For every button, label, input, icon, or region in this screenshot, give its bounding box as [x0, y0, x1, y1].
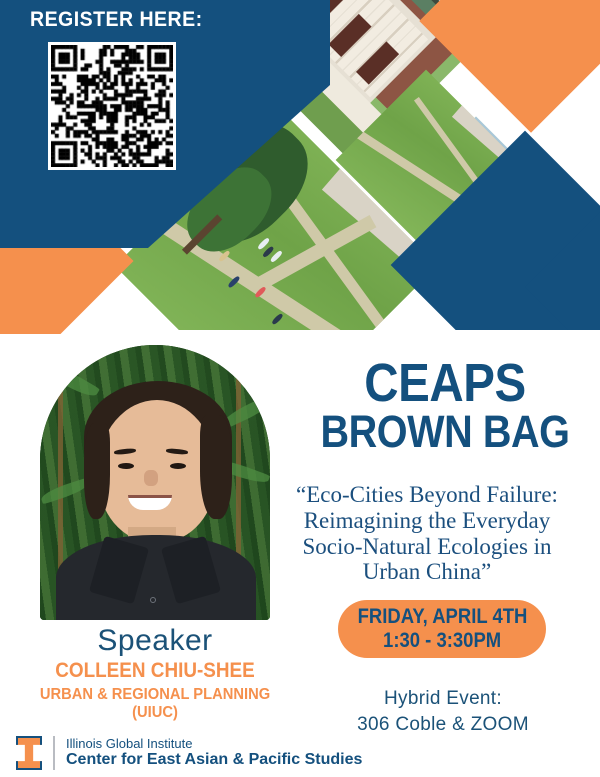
- talk-title-line-2: Reimagining the Everyday: [272, 508, 582, 534]
- illinois-block-i-icon: [12, 734, 46, 772]
- footer-divider: [53, 736, 55, 770]
- title-line-2: BROWN BAG: [317, 410, 572, 453]
- date-time-badge: FRIDAY, APRIL 4TH 1:30 - 3:30PM: [338, 600, 546, 658]
- footer-org-line-2: Center for East Asian & Pacific Studies: [66, 751, 362, 770]
- footer-org-line-1: Illinois Global Institute: [66, 736, 362, 751]
- talk-title-line-3: Socio-Natural Ecologies in: [272, 534, 582, 560]
- register-here-label: REGISTER HERE:: [30, 8, 203, 32]
- speaker-portrait: [40, 345, 270, 620]
- title-line-1: CEAPS: [364, 353, 526, 413]
- event-format-label: Hybrid Event:: [318, 686, 568, 712]
- page-title: CEAPS BROWN BAG: [317, 358, 572, 453]
- speaker-heading: Speaker: [20, 624, 290, 658]
- speaker-name: COLLEEN CHIU-SHEE: [10, 660, 300, 683]
- event-poster: REGISTER HERE: CEAPS BROWN BAG “Eco-Citi…: [0, 0, 600, 777]
- talk-title-line-4: Urban China”: [272, 559, 582, 585]
- event-format: Hybrid Event: 306 Coble & ZOOM: [318, 686, 568, 737]
- qr-code[interactable]: [48, 42, 176, 170]
- event-date: FRIDAY, APRIL 4TH: [357, 605, 527, 629]
- talk-title: “Eco-Cities Beyond Failure: Reimagining …: [272, 482, 582, 585]
- footer-branding: Illinois Global Institute Center for Eas…: [12, 734, 362, 772]
- event-time: 1:30 - 3:30PM: [383, 629, 501, 653]
- speaker-university: (UIUC): [22, 704, 289, 722]
- talk-title-line-1: “Eco-Cities Beyond Failure:: [272, 482, 582, 508]
- speaker-department: URBAN & REGIONAL PLANNING: [22, 686, 289, 704]
- speaker-affiliation: URBAN & REGIONAL PLANNING (UIUC): [10, 686, 300, 722]
